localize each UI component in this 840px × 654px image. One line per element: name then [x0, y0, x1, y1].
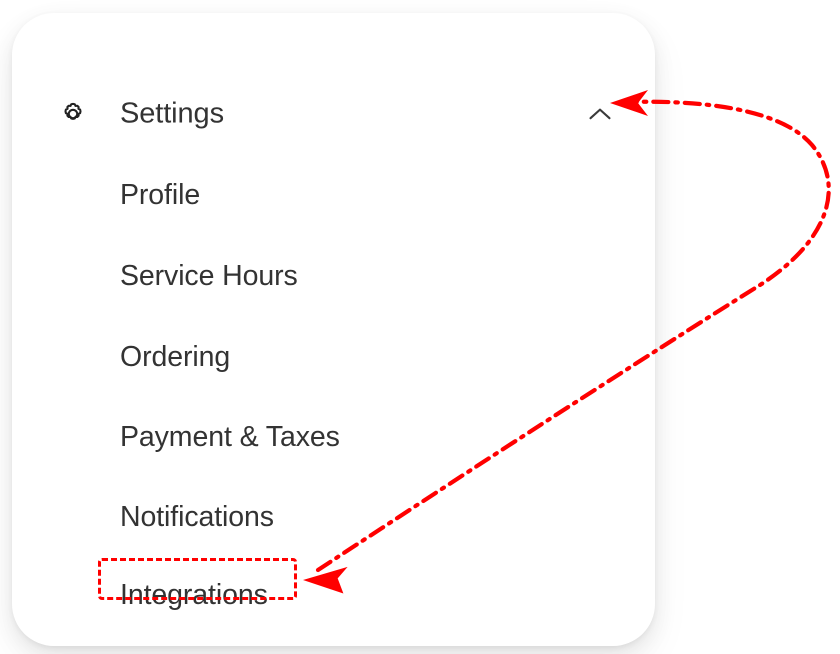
menu-item-integrations[interactable]: Integrations: [12, 569, 655, 621]
menu-item-label: Payment & Taxes: [120, 423, 340, 452]
menu-item-payment-and-taxes[interactable]: Payment & Taxes: [12, 411, 655, 463]
chevron-up-icon[interactable]: [586, 103, 614, 125]
menu-item-label: Integrations: [120, 581, 268, 610]
menu-item-label: Ordering: [120, 343, 230, 372]
menu-header-label: Settings: [120, 100, 224, 129]
screen: Settings Profile Service Hours Ordering …: [0, 0, 840, 654]
settings-menu-card: Settings Profile Service Hours Ordering …: [12, 13, 655, 646]
menu-item-profile[interactable]: Profile: [12, 169, 655, 221]
gear-icon: [56, 97, 90, 131]
menu-item-label: Notifications: [120, 503, 274, 532]
menu-item-label: Service Hours: [120, 262, 298, 291]
menu-item-notifications[interactable]: Notifications: [12, 491, 655, 543]
menu-item-service-hours[interactable]: Service Hours: [12, 250, 655, 302]
menu-header-settings[interactable]: Settings: [12, 88, 655, 140]
menu-item-label: Profile: [120, 181, 200, 210]
menu-item-ordering[interactable]: Ordering: [12, 331, 655, 383]
